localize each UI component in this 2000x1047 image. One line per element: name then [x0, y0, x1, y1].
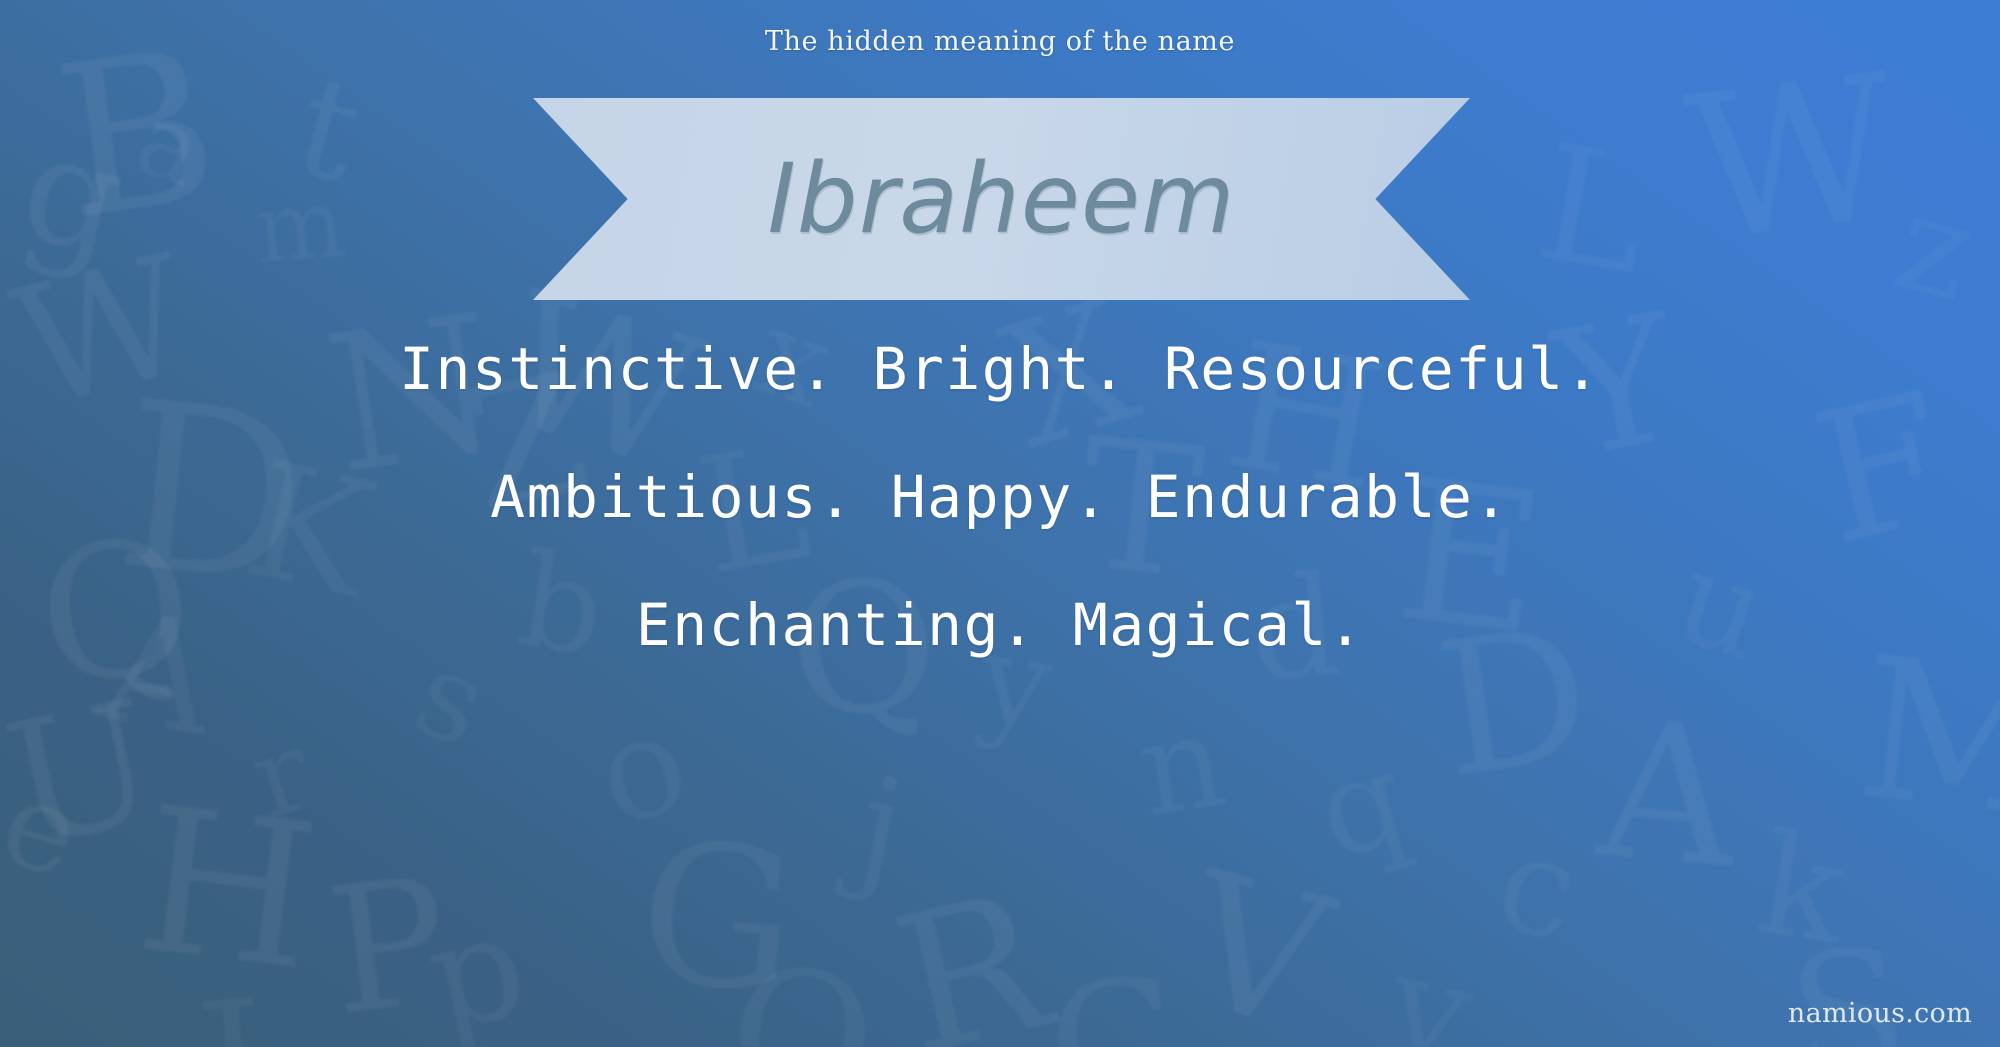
texture-glyph: R — [880, 866, 1062, 1047]
meaning-text-block: Instinctive. Bright. Resourceful. Ambiti… — [0, 340, 2000, 724]
name-text: Ibraheem — [533, 98, 1470, 300]
texture-glyph: k — [1750, 814, 1856, 966]
page-title: The hidden meaning of the name — [0, 26, 2000, 57]
meaning-line: Instinctive. Bright. Resourceful. — [0, 340, 2000, 398]
texture-glyph: P — [320, 853, 458, 1041]
texture-glyph: C — [1038, 951, 1193, 1047]
site-watermark: namious.com — [1788, 998, 1972, 1029]
meaning-line: Enchanting. Magical. — [0, 596, 2000, 654]
meaning-line: Ambitious. Happy. Endurable. — [0, 468, 2000, 526]
texture-glyph: A — [1592, 694, 1745, 895]
texture-glyph: H — [128, 780, 325, 1000]
name-meaning-card: BgWaDmeQAUHrtNKPsZbWoGLxQjRyXTnVdHqEDcYA… — [0, 0, 2000, 1047]
texture-glyph: O — [719, 941, 885, 1047]
texture-glyph: z — [1884, 173, 1988, 322]
texture-glyph: a — [125, 88, 215, 202]
texture-glyph: L — [1527, 122, 1659, 298]
texture-glyph: G — [632, 814, 804, 1022]
texture-glyph: g — [10, 112, 135, 279]
texture-glyph: t — [283, 55, 374, 205]
texture-glyph: v — [1374, 933, 1485, 1047]
texture-glyph: J — [193, 977, 273, 1047]
texture-glyph: p — [416, 892, 537, 1047]
texture-glyph: j — [848, 757, 915, 898]
texture-glyph: q — [1304, 731, 1420, 879]
texture-glyph: r — [239, 715, 323, 836]
texture-glyph: c — [1487, 814, 1589, 962]
texture-glyph: W — [1679, 48, 1907, 272]
texture-glyph: m — [251, 176, 349, 278]
texture-glyph: V — [1170, 847, 1344, 1047]
texture-glyph: e — [0, 763, 91, 898]
